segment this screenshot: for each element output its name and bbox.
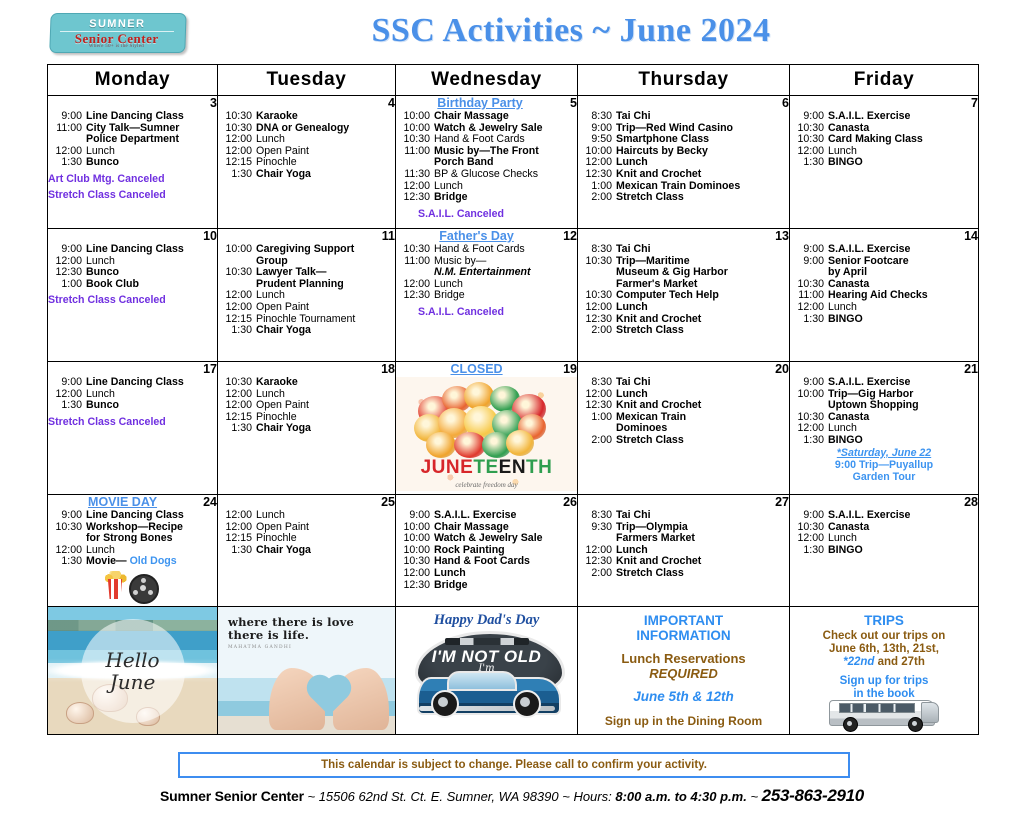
event-title: Bridge — [434, 290, 577, 302]
day-cell-header: 18 — [218, 362, 395, 376]
event-item[interactable]: 1:30Chair Yoga — [218, 545, 395, 557]
day-number: 21 — [964, 362, 978, 376]
trips-body: Check out our trips onJune 6th, 13th, 21… — [796, 630, 972, 669]
day-cell-header: 17 — [48, 362, 217, 376]
day-special-label[interactable]: MOVIE DAY — [48, 495, 197, 509]
event-item[interactable]: 10:00Caregiving Support — [218, 244, 395, 256]
event-item[interactable]: 10:30Karaoke — [218, 377, 395, 389]
love-photo: where there is lovethere is life.MAHATMA… — [218, 607, 395, 734]
event-list: 9:00S.A.I.L. Exercise10:00Chair Massage1… — [396, 510, 577, 591]
dads-day-graphic: Happy Dad's DayI'M NOT OLDI'mClassic — [396, 607, 577, 734]
bus-front — [921, 702, 939, 723]
film-reel-icon — [129, 574, 159, 604]
car-windshield — [447, 671, 517, 691]
calendar-week-row: 179:00Line Dancing Class12:00Lunch1:30Bu… — [48, 362, 979, 495]
bus-windows — [839, 703, 915, 713]
event-title: BP & Glucose Checks — [434, 169, 577, 181]
event-list: 9:00S.A.I.L. Exercise9:00Senior Footcare… — [790, 244, 978, 325]
event-title: S.A.I.L. Exercise — [828, 244, 978, 256]
event-item[interactable]: 8:30Tai Chi — [578, 510, 789, 522]
event-time: 9:00 — [48, 377, 86, 389]
event-item[interactable]: 2:00Stretch Class — [578, 325, 789, 337]
event-title: Tai Chi — [616, 111, 789, 123]
event-item[interactable]: 9:00S.A.I.L. Exercise — [790, 244, 978, 256]
juneteenth-letter: E — [485, 457, 498, 478]
bus-icon — [829, 698, 939, 732]
event-item[interactable]: 12:30Knit and Crochet — [578, 169, 789, 181]
event-title: S.A.I.L. Exercise — [828, 377, 978, 389]
event-title: Stretch Class — [616, 435, 789, 447]
event-time: 9:00 — [48, 111, 86, 123]
extra-trip-note[interactable]: *Saturday, June 229:00 Trip—PuyallupGard… — [790, 447, 978, 483]
day-number: 3 — [210, 96, 217, 110]
event-time: 1:30 — [218, 423, 256, 435]
event-item[interactable]: 12:00Lunch — [578, 302, 789, 314]
day-number: 27 — [775, 495, 789, 509]
event-title: Bunco — [86, 157, 217, 169]
event-list: 9:00S.A.I.L. Exercise10:30Canasta10:30Ca… — [790, 111, 978, 169]
calendar-day-cell[interactable]: 269:00S.A.I.L. Exercise10:00Chair Massag… — [396, 495, 578, 607]
day-special-label[interactable]: CLOSED — [396, 362, 557, 376]
event-item[interactable]: 11:30BP & Glucose Checks — [396, 169, 577, 181]
event-title: BINGO — [828, 545, 978, 557]
event-time: 10:30 — [396, 244, 434, 256]
event-item[interactable]: 8:30Tai Chi — [578, 244, 789, 256]
day-number: 14 — [964, 229, 978, 243]
event-time: 8:30 — [578, 510, 616, 522]
event-item[interactable]: 10:00Chair Massage — [396, 111, 577, 123]
day-cell-header: 6 — [578, 96, 789, 110]
day-number: 17 — [203, 362, 217, 376]
canceled-note: Stretch Class Canceled — [48, 416, 217, 428]
event-item[interactable]: 12:30Bridge — [396, 192, 577, 204]
event-item[interactable]: 1:30Bunco — [48, 400, 217, 412]
day-cell-header: Birthday Party5 — [396, 96, 577, 110]
calendar-day-cell[interactable]: Father's Day1210:30Hand & Foot Cards11:0… — [396, 229, 578, 362]
lunch-signup-line: Sign up in the Dining Room — [584, 714, 783, 728]
event-title: BINGO — [828, 435, 978, 447]
calendar-day-cell[interactable]: 1110:00Caregiving SupportGroup10:30Lawye… — [218, 229, 396, 362]
juneteenth-graphic: JUNETEENTHcelebrate freedom day — [396, 377, 577, 491]
event-title: Line Dancing Class — [86, 111, 217, 123]
canceled-note: S.A.I.L. Canceled — [396, 208, 577, 220]
event-list: 9:00Line Dancing Class12:00Lunch1:30Bunc… — [48, 377, 217, 412]
dads-day-title: Happy Dad's Day — [396, 612, 577, 629]
juneteenth-word: JUNETEENTH — [396, 457, 577, 479]
floral-heart — [412, 380, 562, 458]
trips-title: TRIPS — [796, 613, 972, 628]
canceled-note: S.A.I.L. Canceled — [396, 306, 577, 318]
calendar-day-cell[interactable]: 2512:00Lunch12:00Open Paint12:15Pinochle… — [218, 495, 396, 607]
hands-heart-icon — [269, 654, 389, 730]
event-title: Karaoke — [256, 111, 395, 123]
day-number: 11 — [382, 229, 395, 243]
calendar-day-cell[interactable]: 138:30Tai Chi10:30Trip—MaritimeMuseum & … — [578, 229, 790, 362]
event-item[interactable]: 1:00Mexican Train — [578, 412, 789, 424]
day-number: 7 — [971, 96, 978, 110]
event-item[interactable]: 9:00S.A.I.L. Exercise — [396, 510, 577, 522]
event-item[interactable]: 12:00Lunch — [218, 510, 395, 522]
hello-june-text: HelloJune — [105, 649, 159, 693]
event-list: 8:30Tai Chi9:30Trip—OlympiaFarmers Marke… — [578, 510, 789, 580]
weekday-header-friday: Friday — [790, 65, 979, 96]
event-list: 12:00Lunch12:00Open Paint12:15Pinochle1:… — [218, 510, 395, 556]
movie-title: Old Dogs — [127, 555, 177, 567]
love-quote-text: where there is lovethere is life. — [228, 616, 354, 642]
event-item[interactable]: 1:30Chair Yoga — [218, 169, 395, 181]
event-time: 11:00 — [396, 256, 434, 268]
event-item[interactable]: 10:30Karaoke — [218, 111, 395, 123]
popcorn-cup — [107, 579, 124, 599]
event-title: Line Dancing Class — [86, 510, 217, 522]
day-cell-header: 21 — [790, 362, 978, 376]
event-list: 8:30Tai Chi9:00Trip—Red Wind Casino9:50S… — [578, 111, 789, 204]
event-time: 10:00 — [396, 111, 434, 123]
calendar-day-cell[interactable]: Birthday Party510:00Chair Massage10:00Wa… — [396, 96, 578, 229]
flower-petal — [426, 432, 456, 458]
day-number: 6 — [782, 96, 789, 110]
weekday-header-thursday: Thursday — [578, 65, 790, 96]
event-time: 9:00 — [48, 510, 86, 522]
event-title: Chair Yoga — [256, 169, 395, 181]
event-title: Chair Yoga — [256, 325, 395, 337]
event-title: Book Club — [86, 279, 217, 291]
event-item[interactable]: 10:30Hand & Foot Cards — [396, 244, 577, 256]
event-item[interactable]: 1:30BINGO — [790, 545, 978, 557]
event-time: 10:30 — [578, 256, 616, 268]
event-item[interactable]: 12:00Lunch — [790, 302, 978, 314]
event-item[interactable]: 9:00Line Dancing Class — [48, 111, 217, 123]
event-item[interactable]: 9:00S.A.I.L. Exercise — [790, 111, 978, 123]
event-item[interactable]: 8:30Tai Chi — [578, 377, 789, 389]
footer-sep-3: ~ — [747, 789, 762, 804]
event-time: 8:30 — [578, 377, 616, 389]
event-item[interactable]: 1:30Chair Yoga — [218, 423, 395, 435]
day-number: 4 — [388, 96, 395, 110]
event-title: Line Dancing Class — [86, 244, 217, 256]
calendar-day-cell[interactable]: 149:00S.A.I.L. Exercise9:00Senior Footca… — [790, 229, 979, 362]
event-item[interactable]: 1:30BINGO — [790, 314, 978, 326]
event-list: 9:00Line Dancing Class11:00City Talk—Sum… — [48, 111, 217, 169]
event-time: 2:00 — [578, 192, 616, 204]
car-wheel — [431, 690, 459, 718]
event-time: 2:00 — [578, 568, 616, 580]
logo-sub-text: Where 50+ is the Styled — [45, 44, 187, 49]
calendar-day-cell[interactable]: 1810:30Karaoke12:00Lunch12:00Open Paint1… — [218, 362, 396, 495]
love-quote-image: where there is lovethere is life.MAHATMA… — [218, 607, 396, 735]
event-time: 1:30 — [218, 169, 256, 181]
event-time: 12:30 — [578, 169, 616, 181]
event-time: 1:30 — [218, 545, 256, 557]
event-title: Lunch — [828, 302, 978, 314]
car-wheel — [513, 690, 541, 718]
canceled-note: Art Club Mtg. Canceled — [48, 173, 217, 185]
event-item[interactable]: 9:00S.A.I.L. Exercise — [790, 510, 978, 522]
footer-sep-2: ~ Hours: — [559, 789, 616, 804]
weekday-header-tuesday: Tuesday — [218, 65, 396, 96]
calendar-week-row: MOVIE DAY249:00Line Dancing Class10:30Wo… — [48, 495, 979, 607]
event-title: BINGO — [828, 157, 978, 169]
day-cell-header: 14 — [790, 229, 978, 243]
event-time: 12:00 — [578, 302, 616, 314]
event-time: 9:00 — [790, 244, 828, 256]
event-title: Hand & Foot Cards — [434, 244, 577, 256]
juneteenth-subtitle: celebrate freedom day — [396, 481, 577, 489]
calendar-week-row: 109:00Line Dancing Class12:00Lunch12:30B… — [48, 229, 979, 362]
event-title: Lunch — [256, 510, 395, 522]
event-item[interactable]: 12:30Bridge — [396, 290, 577, 302]
footer-org-name: Sumner Senior Center — [160, 788, 304, 804]
day-cell-header: 13 — [578, 229, 789, 243]
event-list: 8:30Tai Chi12:00Lunch12:30Knit and Croch… — [578, 377, 789, 447]
lunch-required-line: REQUIRED — [584, 666, 783, 681]
juneteenth-letter: T — [526, 457, 538, 478]
event-time: 9:30 — [578, 522, 616, 534]
event-item[interactable]: 9:00Line Dancing Class — [48, 244, 217, 256]
calendar-day-cell[interactable]: 278:30Tai Chi9:30Trip—OlympiaFarmers Mar… — [578, 495, 790, 607]
juneteenth-letter: H — [538, 457, 552, 478]
calendar-day-cell[interactable]: 179:00Line Dancing Class12:00Lunch1:30Bu… — [48, 362, 218, 495]
event-item[interactable]: 12:00Lunch — [396, 568, 577, 580]
event-title: Chair Yoga — [256, 545, 395, 557]
event-item[interactable]: 9:00S.A.I.L. Exercise — [790, 377, 978, 389]
seashell-icon — [66, 702, 94, 724]
day-cell-header: 4 — [218, 96, 395, 110]
event-item[interactable]: 9:00Line Dancing Class — [48, 377, 217, 389]
day-number: 10 — [203, 229, 217, 243]
event-time: 8:30 — [578, 111, 616, 123]
day-cell-header: 3 — [48, 96, 217, 110]
important-info-title: IMPORTANTINFORMATION — [584, 613, 783, 643]
extra-trip-line2: 9:00 Trip—Puyallup — [835, 459, 933, 471]
day-cell-header: 20 — [578, 362, 789, 376]
calendar-day-cell[interactable]: 410:30Karaoke10:30DNA or Genealogy12:00L… — [218, 96, 396, 229]
day-cell-header: 27 — [578, 495, 789, 509]
bus-wheel — [908, 717, 923, 732]
event-item[interactable]: 2:00Stretch Class — [578, 192, 789, 204]
calendar-bottom-row: HelloJunewhere there is lovethere is lif… — [48, 607, 979, 735]
event-time: 12:00 — [396, 568, 434, 580]
event-list: 10:00Caregiving SupportGroup10:30Lawyer … — [218, 244, 395, 337]
calendar-body: 39:00Line Dancing Class11:00City Talk—Su… — [48, 96, 979, 735]
lunch-dates-line: June 5th & 12th — [584, 689, 783, 705]
footer-hours: 8:00 a.m. to 4:30 p.m. — [615, 789, 747, 804]
day-number: 19 — [563, 362, 577, 376]
day-cell-header: CLOSED19 — [396, 362, 577, 376]
event-list: 10:30Karaoke10:30DNA or Genealogy12:00Lu… — [218, 111, 395, 181]
weekday-header-monday: Monday — [48, 65, 218, 96]
day-cell-header: MOVIE DAY24 — [48, 495, 217, 509]
day-cell-header: 28 — [790, 495, 978, 509]
dads-day-image: Happy Dad's DayI'M NOT OLDI'mClassic — [396, 607, 578, 735]
calendar-change-notice: This calendar is subject to change. Plea… — [178, 752, 850, 778]
bus-wheel — [843, 717, 858, 732]
day-number: 18 — [381, 362, 395, 376]
event-time: 9:00 — [396, 510, 434, 522]
event-item[interactable]: 8:30Tai Chi — [578, 111, 789, 123]
event-time: 9:00 — [790, 111, 828, 123]
event-time: 9:00 — [48, 244, 86, 256]
event-item[interactable]: 2:00Stretch Class — [578, 435, 789, 447]
day-number: 12 — [563, 229, 577, 243]
day-number: 13 — [775, 229, 789, 243]
event-title: Lunch — [616, 302, 789, 314]
event-time: 11:00 — [48, 123, 86, 135]
event-time: 1:00 — [578, 412, 616, 424]
page-title: SSC Activities ~ June 2024 — [188, 12, 1024, 50]
calendar-day-cell[interactable]: 79:00S.A.I.L. Exercise10:30Canasta10:30C… — [790, 96, 979, 229]
event-list: 9:00S.A.I.L. Exercise10:30Canasta12:00Lu… — [790, 510, 978, 556]
event-title: Stretch Class — [616, 568, 789, 580]
event-item[interactable]: 1:30Bunco — [48, 157, 217, 169]
juneteenth-letter: E — [499, 457, 512, 478]
day-number: 24 — [203, 495, 217, 509]
event-title: Tai Chi — [616, 244, 789, 256]
event-title: Bridge — [434, 580, 577, 592]
calendar-day-cell[interactable]: 68:30Tai Chi9:00Trip—Red Wind Casino9:50… — [578, 96, 790, 229]
event-time: 12:30 — [396, 192, 434, 204]
calendar-day-cell[interactable]: 39:00Line Dancing Class11:00City Talk—Su… — [48, 96, 218, 229]
calendar-day-cell[interactable]: 109:00Line Dancing Class12:00Lunch12:30B… — [48, 229, 218, 362]
event-time: 11:30 — [396, 169, 434, 181]
event-title: S.A.I.L. Exercise — [828, 510, 978, 522]
event-time: 10:30 — [218, 267, 256, 279]
day-cell-header: 10 — [48, 229, 217, 243]
flower-petal — [506, 430, 534, 456]
footer-phone: 253-863-2910 — [762, 786, 864, 805]
event-item[interactable]: 12:00Open Paint — [218, 302, 395, 314]
hello-june-image: HelloJune — [48, 607, 218, 735]
event-time: 10:30 — [218, 111, 256, 123]
day-cell-header: 11 — [218, 229, 395, 243]
calendar-day-cell[interactable]: 208:30Tai Chi12:00Lunch12:30Knit and Cro… — [578, 362, 790, 495]
event-time: 9:00 — [790, 510, 828, 522]
badge-strip — [445, 638, 529, 645]
event-title: S.A.I.L. Exercise — [828, 111, 978, 123]
extra-trip-date: *Saturday, June 22 — [837, 447, 931, 459]
event-list: 10:00Chair Massage10:00Watch & Jewelry S… — [396, 111, 577, 204]
event-title: Knit and Crochet — [616, 169, 789, 181]
event-time: 1:30 — [790, 435, 828, 447]
page-header: SUMNER Senior Center Where 50+ is the St… — [0, 0, 1024, 62]
event-title: Bridge — [434, 192, 577, 204]
day-cell-header: Father's Day12 — [396, 229, 577, 243]
event-title: Lunch — [434, 568, 577, 580]
event-title: S.A.I.L. Exercise — [434, 510, 577, 522]
calendar-day-cell[interactable]: MOVIE DAY249:00Line Dancing Class10:30Wo… — [48, 495, 218, 607]
event-list: 10:30Hand & Foot Cards11:00Music by—N.M.… — [396, 244, 577, 302]
event-time: 9:00 — [790, 377, 828, 389]
event-title: Tai Chi — [616, 377, 789, 389]
event-time: 1:30 — [790, 157, 828, 169]
day-cell-header: 7 — [790, 96, 978, 110]
day-number: 25 — [381, 495, 395, 509]
extra-trip-line3: Garden Tour — [853, 471, 916, 483]
event-time: 10:00 — [790, 389, 828, 401]
event-time: 1:30 — [48, 400, 86, 412]
logo-top-text: SUMNER — [46, 18, 188, 30]
event-time: 10:30 — [218, 377, 256, 389]
event-item[interactable]: 1:30BINGO — [790, 435, 978, 447]
event-list: 9:00S.A.I.L. Exercise10:00Trip—Gig Harbo… — [790, 377, 978, 447]
event-time: 11:00 — [396, 146, 434, 158]
event-item[interactable]: 9:00Senior Footcare — [790, 256, 978, 268]
event-item[interactable]: 1:30BINGO — [790, 157, 978, 169]
event-list: 10:30Karaoke12:00Lunch12:00Open Paint12:… — [218, 377, 395, 435]
calendar-day-cell[interactable]: CLOSED19JUNETEENTHcelebrate freedom day — [396, 362, 578, 495]
event-title: Line Dancing Class — [86, 377, 217, 389]
juneteenth-letter: J — [421, 457, 432, 478]
event-item[interactable]: 1:30Movie— Old Dogs — [48, 556, 217, 568]
beach-photo: HelloJune — [48, 607, 217, 734]
footer-contact-line: Sumner Senior Center ~ 15506 62nd St. Ct… — [0, 786, 1024, 806]
classic-car-badge: I'M NOT OLDI'mClassic — [411, 631, 563, 719]
calendar-table: Monday Tuesday Wednesday Thursday Friday… — [47, 64, 979, 735]
juneteenth-letter: E — [460, 457, 473, 478]
canceled-note: Stretch Class Canceled — [48, 189, 217, 201]
calendar-header-row: Monday Tuesday Wednesday Thursday Friday — [48, 65, 979, 96]
event-time: 1:30 — [218, 325, 256, 337]
event-time: 1:30 — [790, 545, 828, 557]
event-time: 10:30 — [48, 522, 86, 534]
day-special-label[interactable]: Father's Day — [396, 229, 557, 243]
event-time: 1:30 — [48, 556, 86, 568]
juneteenth-letter: N — [512, 457, 526, 478]
event-time: 12:00 — [790, 302, 828, 314]
day-number: 5 — [570, 96, 577, 110]
calendar-change-notice-text: This calendar is subject to change. Plea… — [321, 759, 707, 771]
day-number: 26 — [563, 495, 577, 509]
event-title: Stretch Class — [616, 325, 789, 337]
day-cell-header: 26 — [396, 495, 577, 509]
event-item[interactable]: 9:00Line Dancing Class — [48, 510, 217, 522]
event-title: Movie— Old Dogs — [86, 556, 217, 568]
event-time: 12:30 — [396, 290, 434, 302]
event-item[interactable]: 12:30Bridge — [396, 580, 577, 592]
sumner-senior-center-logo: SUMNER Senior Center Where 50+ is the St… — [45, 9, 189, 53]
calendar-week-row: 39:00Line Dancing Class11:00City Talk—Su… — [48, 96, 979, 229]
event-time: 1:30 — [48, 157, 86, 169]
calendar-day-cell[interactable]: 219:00S.A.I.L. Exercise10:00Trip—Gig Har… — [790, 362, 979, 495]
event-time: 10:00 — [218, 244, 256, 256]
trips-starred-date: *22nd — [843, 656, 874, 668]
event-time: 1:00 — [48, 279, 86, 291]
calendar-day-cell[interactable]: 289:00S.A.I.L. Exercise10:30Canasta12:00… — [790, 495, 979, 607]
event-time: 8:30 — [578, 244, 616, 256]
event-list: 8:30Tai Chi10:30Trip—MaritimeMuseum & Gi… — [578, 244, 789, 337]
event-title: Chair Massage — [434, 111, 577, 123]
event-item[interactable]: 1:00Book Club — [48, 279, 217, 291]
weekday-header-wednesday: Wednesday — [396, 65, 578, 96]
footer-sep-1: ~ — [304, 789, 319, 804]
event-time: 12:00 — [218, 510, 256, 522]
day-special-label[interactable]: Birthday Party — [396, 96, 564, 110]
event-time: 2:00 — [578, 435, 616, 447]
footer-address: 15506 62nd St. Ct. E. Sumner, WA 98390 — [319, 789, 559, 804]
event-time: 2:00 — [578, 325, 616, 337]
event-title: Caregiving Support — [256, 244, 395, 256]
canceled-note: Stretch Class Canceled — [48, 294, 217, 306]
event-title: Tai Chi — [616, 510, 789, 522]
event-title: BINGO — [828, 314, 978, 326]
love-quote-attribution: MAHATMA GANDHI — [228, 645, 292, 650]
lunch-reservations-line: Lunch Reservations — [584, 651, 783, 666]
event-item[interactable]: 2:00Stretch Class — [578, 568, 789, 580]
juneteenth-letter: T — [473, 457, 485, 478]
event-title: Open Paint — [256, 302, 395, 314]
event-item[interactable]: 1:30Chair Yoga — [218, 325, 395, 337]
juneteenth-letter: N — [446, 457, 460, 478]
